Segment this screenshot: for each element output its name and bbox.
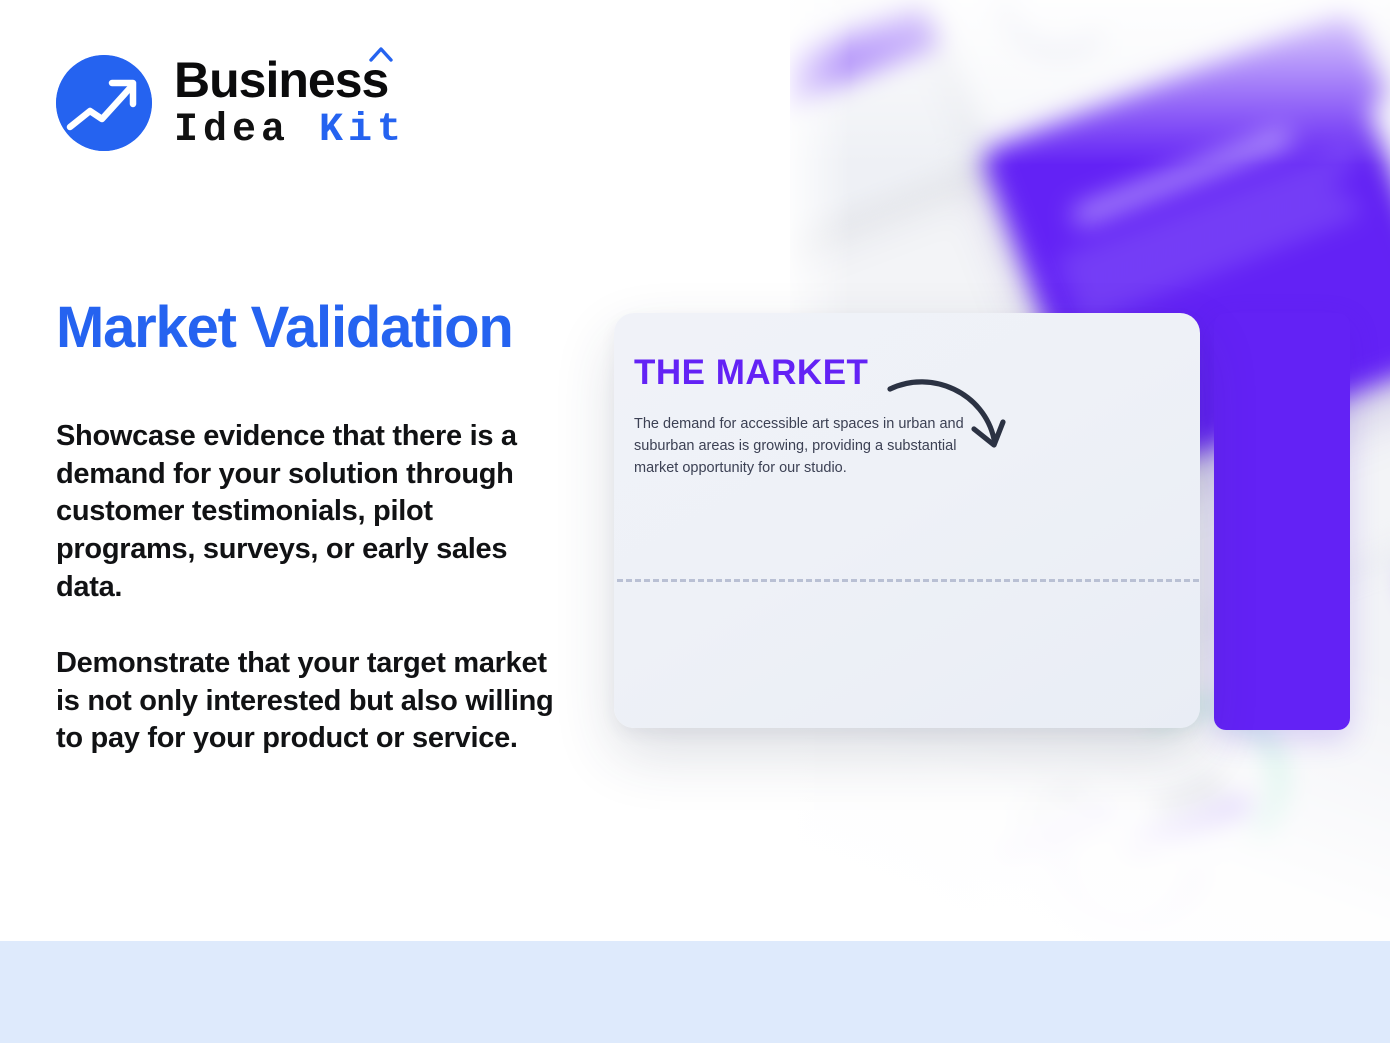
curved-arrow-down-right-icon xyxy=(884,365,1014,475)
brand-name-idea: Idea xyxy=(174,108,290,153)
page-title: Market Validation xyxy=(56,298,596,359)
brand-name-top: Business xyxy=(174,55,406,105)
brand-name-bottom: Idea Kit xyxy=(174,111,406,151)
market-size-chart: $500,000,000 Total Addressable Market (T… xyxy=(614,493,1200,728)
brand-logo: Business Idea Kit xyxy=(56,55,406,151)
bottom-accent-band xyxy=(0,941,1390,1043)
growth-arrow-circle-icon xyxy=(56,55,152,151)
decor-purple-block xyxy=(1214,313,1350,730)
body-paragraph-1: Showcase evidence that there is a demand… xyxy=(56,418,576,606)
brand-caret-icon xyxy=(368,46,394,62)
market-card: THE MARKET The demand for accessible art… xyxy=(614,313,1200,728)
body-paragraph-2: Demonstrate that your target market is n… xyxy=(56,645,576,758)
brand-wordmark: Business Idea Kit xyxy=(174,55,406,151)
brand-name-top-text: Business xyxy=(174,52,388,108)
slide-canvas: Business Idea Kit Market Validation Show… xyxy=(0,0,1390,1043)
market-card-title: THE MARKET xyxy=(634,353,868,393)
brand-name-kit: Kit xyxy=(319,108,406,153)
